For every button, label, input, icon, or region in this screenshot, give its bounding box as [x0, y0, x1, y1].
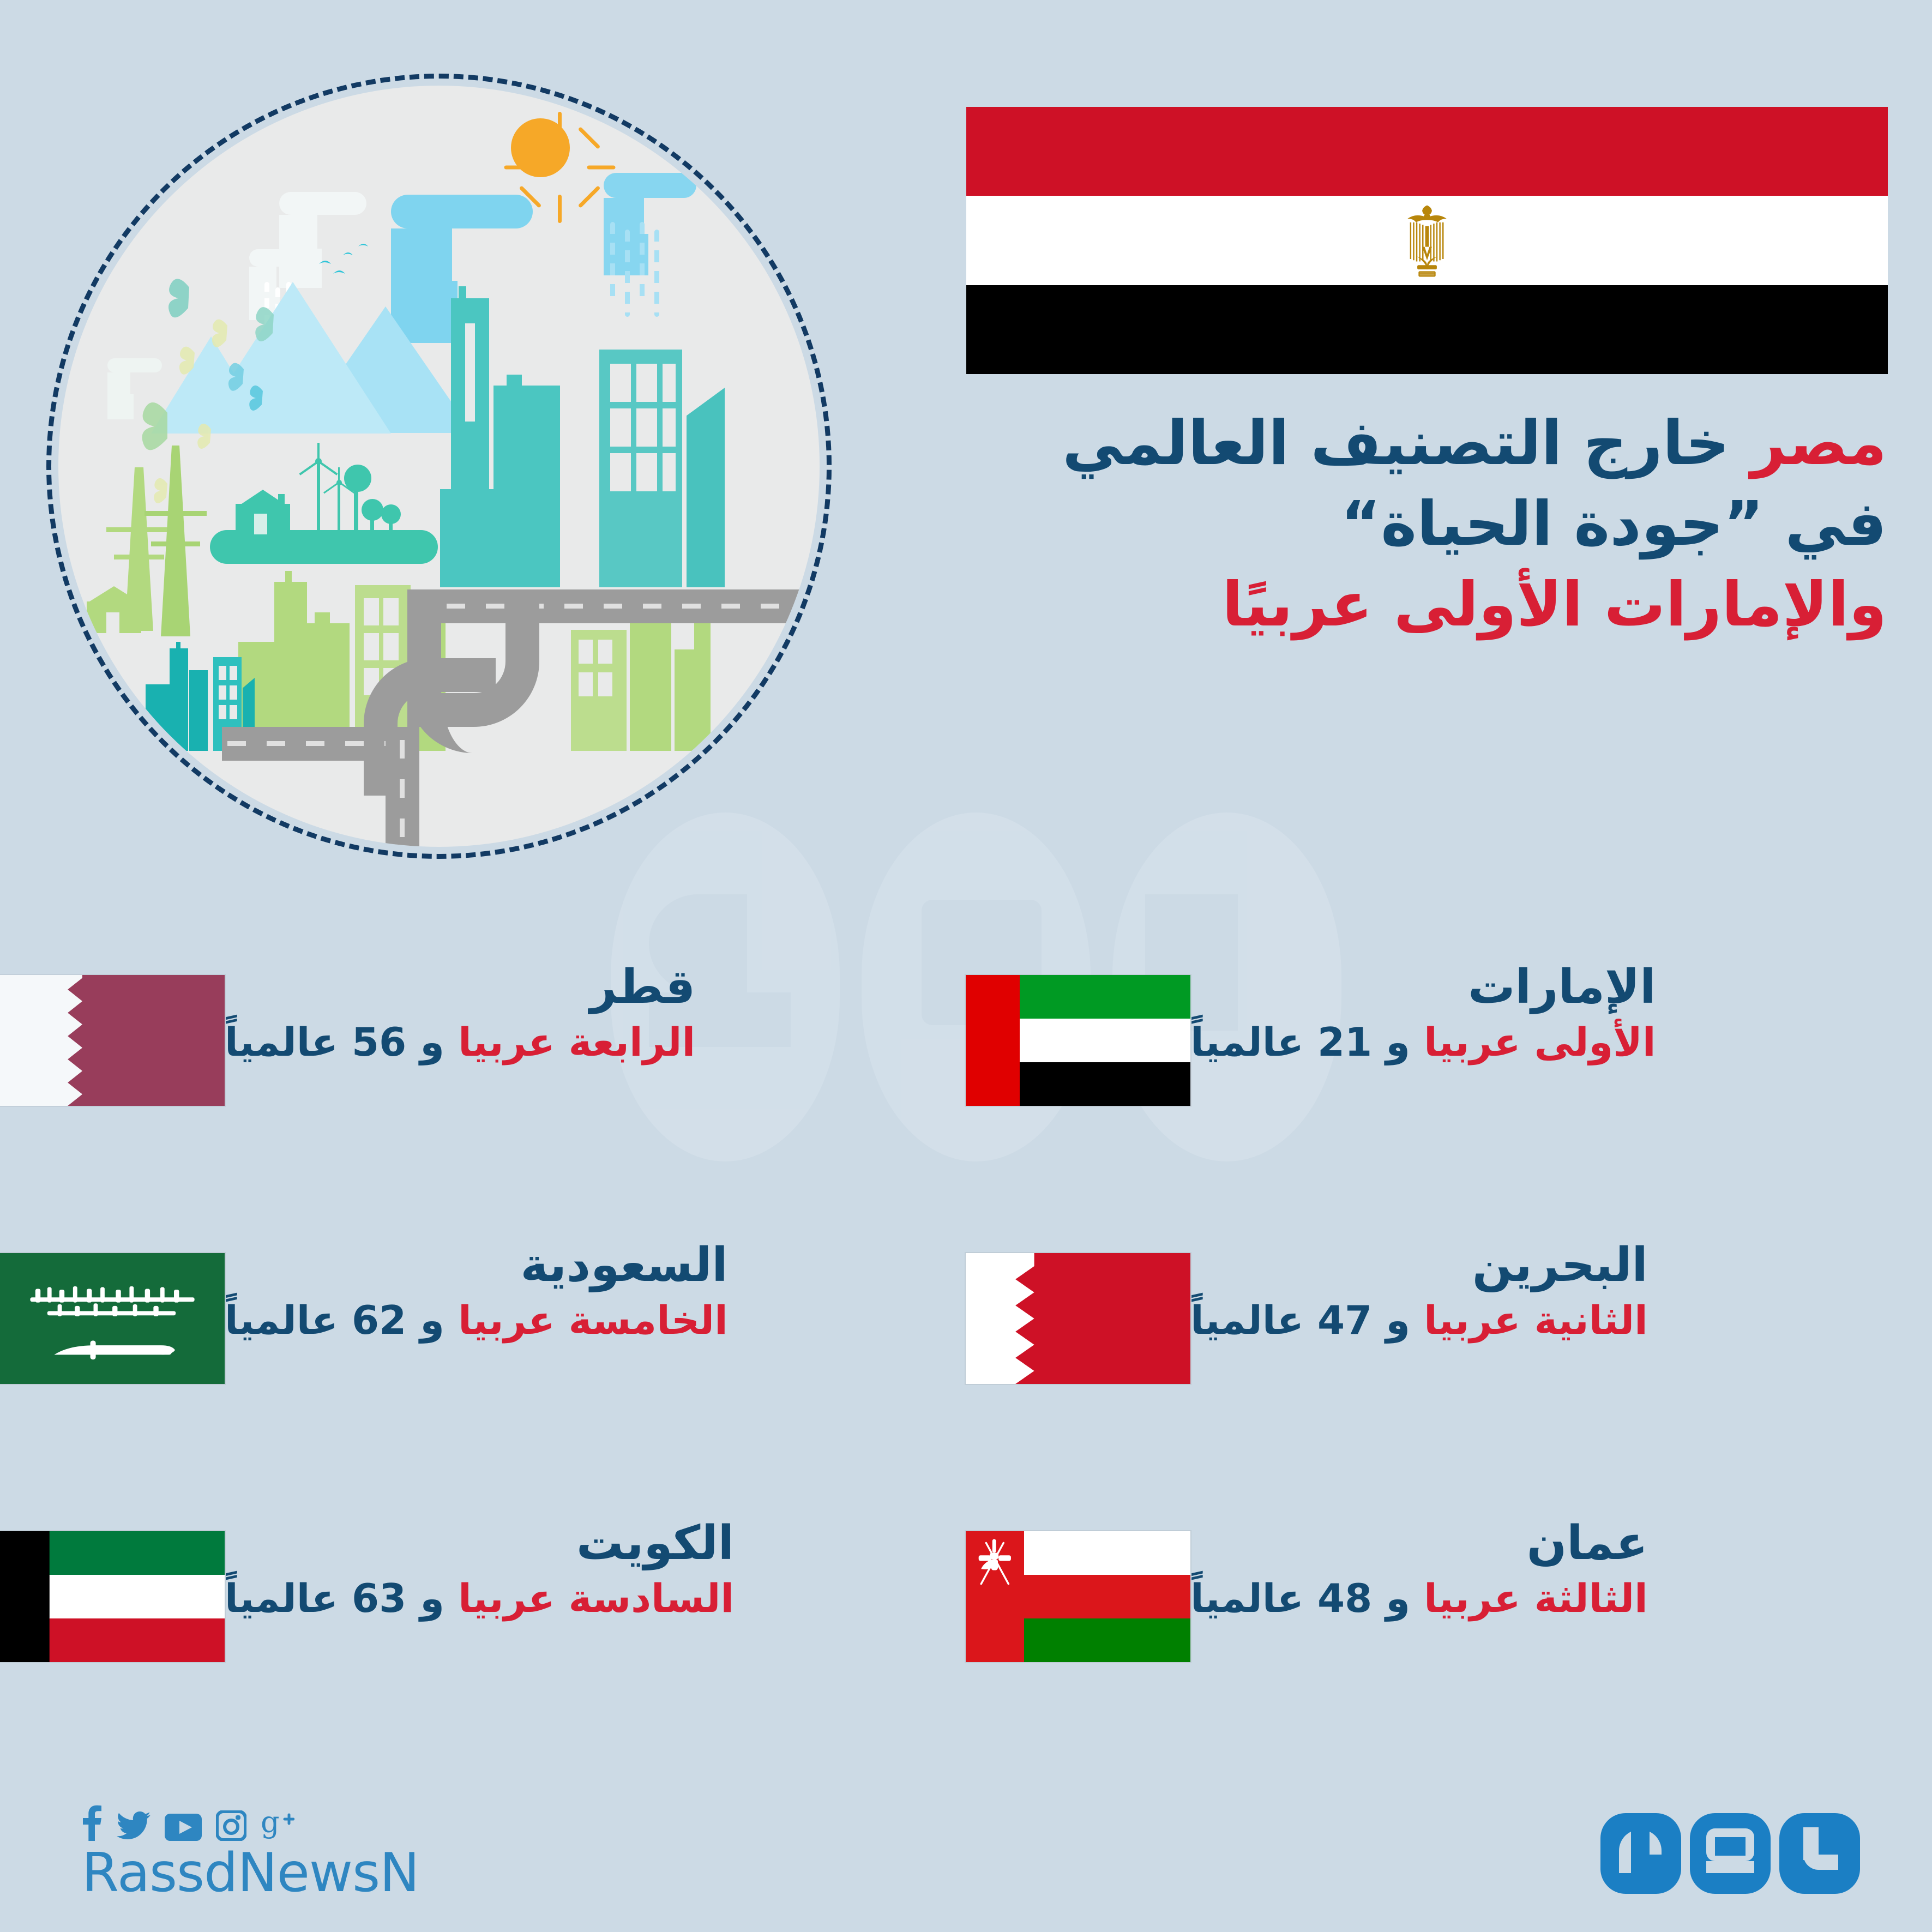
country-rank: الخامسة عربيا و 62 عالمياً [225, 1297, 728, 1344]
khanjar-emblem-icon [970, 1537, 1020, 1586]
eco-city-illustration [46, 74, 832, 859]
country-card-bahrain[interactable]: البحرين الثانية عربيا و 47 عالمياً [966, 1227, 1931, 1505]
instagram-icon[interactable] [216, 1810, 246, 1841]
qatar-flag [0, 975, 225, 1106]
bahrain-serration [1015, 1253, 1047, 1384]
house-icon-teal [236, 492, 290, 534]
country-name: الكويت [225, 1517, 734, 1569]
logo-letter-saad [1690, 1813, 1771, 1894]
twitter-icon[interactable] [117, 1811, 151, 1841]
logo-letter-daal [1600, 1813, 1681, 1894]
page-headline: مصر خارج التصنيف العالمي في ”جودة الحياة… [889, 404, 1887, 645]
kuwait-text: الكويت السادسة عربيا و 63 عالمياً [225, 1505, 734, 1622]
tree-icon-3 [381, 504, 404, 537]
kuwait-flag [0, 1531, 225, 1662]
country-rank: الأولى عربيا و 21 عالمياً [1190, 1019, 1656, 1066]
uae-text: الإمارات الأولى عربيا و 21 عالمياً [1190, 949, 1656, 1066]
ranking-row-1: قطر الرابعة عربيا و 56 عالمياً الإمارات [0, 949, 1932, 1227]
house-icon-green [87, 587, 141, 633]
country-name: الإمارات [1190, 961, 1656, 1013]
egypt-flag-black-band [966, 285, 1888, 374]
arab-rank-label: الثانية عربيا [1424, 1297, 1648, 1343]
saudi-flag [0, 1253, 225, 1384]
power-pylon-icon-2 [140, 446, 211, 636]
qatar-text: قطر الرابعة عربيا و 56 عالمياً [225, 949, 695, 1066]
arab-rank-label: الخامسة عربيا [458, 1297, 728, 1343]
global-rank-label: و 47 عالمياً [1190, 1297, 1410, 1343]
country-rank: الثانية عربيا و 47 عالمياً [1190, 1297, 1648, 1344]
road-dash-lower [227, 741, 396, 746]
social-icons-row: g [82, 1799, 573, 1841]
eagle-of-saladin-icon [1397, 203, 1458, 285]
skyline-green-right [571, 609, 724, 751]
shahada-calligraphy [18, 1282, 207, 1327]
country-ranking-grid: قطر الرابعة عربيا و 56 عالمياً الإمارات [0, 949, 1932, 1783]
global-rank-label: و 56 عالمياً [225, 1019, 444, 1065]
footer-branding: g RassdNewsN [82, 1799, 573, 1900]
social-handle: RassdNewsN [82, 1846, 573, 1900]
country-card-kuwait[interactable]: الكويت السادسة عربيا و 63 عالمياً [0, 1505, 966, 1783]
arab-rank-label: الأولى عربيا [1424, 1019, 1656, 1065]
skyline-teal [440, 298, 745, 587]
ranking-row-3: الكويت السادسة عربيا و 63 عالمياً [0, 1505, 1932, 1783]
cloud-icon-blue-right [604, 173, 696, 218]
egypt-flag-red-band [966, 107, 1888, 196]
country-rank: الثالثة عربيا و 48 عالمياً [1190, 1575, 1648, 1622]
country-name: قطر [225, 961, 695, 1013]
youtube-icon[interactable] [165, 1814, 202, 1841]
headline-line-3: والإمارات الأولى عربيًا [889, 565, 1887, 646]
logo-letter-raa [1779, 1813, 1860, 1894]
country-card-qatar[interactable]: قطر الرابعة عربيا و 56 عالمياً [0, 949, 966, 1227]
headline-line-2: في ”جودة الحياة“ [889, 484, 1887, 565]
country-card-oman[interactable]: عمان الثالثة عربيا و 48 عالمياً [966, 1505, 1931, 1783]
global-rank-label: و 63 عالمياً [225, 1575, 444, 1621]
road-dash-stub [400, 740, 405, 844]
headline-line-1: مصر خارج التصنيف العالمي [889, 404, 1887, 484]
bahrain-text: البحرين الثانية عربيا و 47 عالمياً [1190, 1227, 1648, 1344]
saudi-text: السعودية الخامسة عربيا و 62 عالمياً [225, 1227, 728, 1344]
headline-line-1-rest: خارج التصنيف العالمي [1062, 408, 1750, 479]
oman-text: عمان الثالثة عربيا و 48 عالمياً [1190, 1505, 1648, 1622]
bahrain-flag [966, 1253, 1190, 1384]
egypt-flag [966, 107, 1888, 374]
cloud-icon-blue-large [391, 195, 533, 260]
oman-flag [966, 1531, 1190, 1662]
rassd-logo[interactable] [1600, 1813, 1860, 1894]
global-rank-label: و 62 عالمياً [225, 1297, 444, 1343]
country-name: البحرين [1190, 1239, 1648, 1291]
svg-text:g: g [261, 1807, 280, 1839]
googleplus-icon[interactable]: g [261, 1807, 294, 1841]
arab-rank-label: الثالثة عربيا [1424, 1575, 1648, 1621]
illustration-scene [58, 86, 820, 847]
country-card-uae[interactable]: الإمارات الأولى عربيا و 21 عالمياً [966, 949, 1931, 1227]
cloud-icon-white-left [279, 192, 366, 234]
arab-rank-label: الرابعة عربيا [458, 1019, 695, 1065]
uae-flag [966, 975, 1190, 1106]
sword-icon [40, 1334, 184, 1366]
country-name: السعودية [225, 1239, 728, 1291]
global-rank-label: و 48 عالمياً [1190, 1575, 1410, 1621]
country-card-saudi[interactable]: السعودية الخامسة عربيا و 62 عالمياً [0, 1227, 966, 1505]
country-rank: السادسة عربيا و 63 عالمياً [225, 1575, 734, 1622]
kuwait-black-trapezoid [0, 1531, 50, 1662]
global-rank-label: و 21 عالمياً [1190, 1019, 1410, 1065]
country-name: عمان [1190, 1517, 1648, 1569]
arab-rank-label: السادسة عربيا [458, 1575, 734, 1621]
country-rank: الرابعة عربيا و 56 عالمياً [225, 1019, 695, 1066]
qatar-serration [68, 975, 99, 1106]
ranking-row-2: السعودية الخامسة عربيا و 62 عالمياً [0, 1227, 1932, 1505]
infographic-canvas: مصر خارج التصنيف العالمي في ”جودة الحياة… [0, 0, 1932, 1932]
headline-egypt-word: مصر [1751, 408, 1887, 479]
facebook-icon[interactable] [82, 1805, 103, 1841]
